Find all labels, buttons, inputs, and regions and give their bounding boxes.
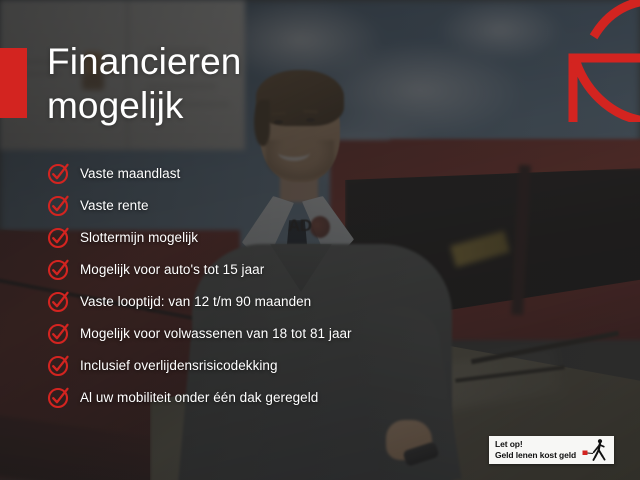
list-item-label: Mogelijk voor volwassenen van 18 tot 81 … — [80, 326, 352, 341]
overlay-content: Financieren mogelijk Vaste maandlast — [0, 0, 640, 480]
list-item-label: Vaste rente — [80, 198, 149, 213]
list-item: Vaste maandlast — [47, 157, 477, 189]
list-item: Vaste looptijd: van 12 t/m 90 maanden — [47, 285, 477, 317]
list-item-label: Slottermijn mogelijk — [80, 230, 198, 245]
list-item-label: Mogelijk voor auto's tot 15 jaar — [80, 262, 264, 277]
check-circle-icon — [47, 323, 68, 344]
check-circle-icon — [47, 355, 68, 376]
list-item: Vaste rente — [47, 189, 477, 221]
feature-list: Vaste maandlast Vaste rente — [47, 157, 477, 413]
list-item: Al uw mobiliteit onder één dak geregeld — [47, 381, 477, 413]
list-item: Mogelijk voor auto's tot 15 jaar — [47, 253, 477, 285]
list-item-label: Vaste maandlast — [80, 166, 180, 181]
warning-line-2: Geld lenen kost geld — [495, 450, 576, 460]
check-circle-icon — [47, 291, 68, 312]
check-circle-icon — [47, 227, 68, 248]
page-title: Financieren mogelijk — [47, 40, 377, 127]
list-item: Mogelijk voor volwassenen van 18 tot 81 … — [47, 317, 477, 349]
check-circle-icon — [47, 195, 68, 216]
check-circle-icon — [47, 387, 68, 408]
walking-man-pulling-block-icon — [582, 438, 608, 462]
list-item-label: Inclusief overlijdensrisicodekking — [80, 358, 278, 373]
warning-line-1: Let op! — [495, 439, 523, 449]
list-item-label: Vaste looptijd: van 12 t/m 90 maanden — [80, 294, 311, 309]
red-accent-block — [0, 48, 27, 118]
partial-arc-bracket-logo-icon — [554, 0, 640, 122]
title-line-2: mogelijk — [47, 84, 377, 128]
check-circle-icon — [47, 163, 68, 184]
check-circle-icon — [47, 259, 68, 280]
promo-banner: AD Financieren mogelijk Vaste maandlast — [0, 0, 640, 480]
warning-text: Let op! Geld lenen kost geld — [495, 439, 582, 461]
list-item: Inclusief overlijdensrisicodekking — [47, 349, 477, 381]
list-item: Slottermijn mogelijk — [47, 221, 477, 253]
title-line-1: Financieren — [47, 41, 241, 82]
status-badge: Let op! Geld lenen kost geld — [489, 436, 614, 464]
list-item-label: Al uw mobiliteit onder één dak geregeld — [80, 390, 318, 405]
